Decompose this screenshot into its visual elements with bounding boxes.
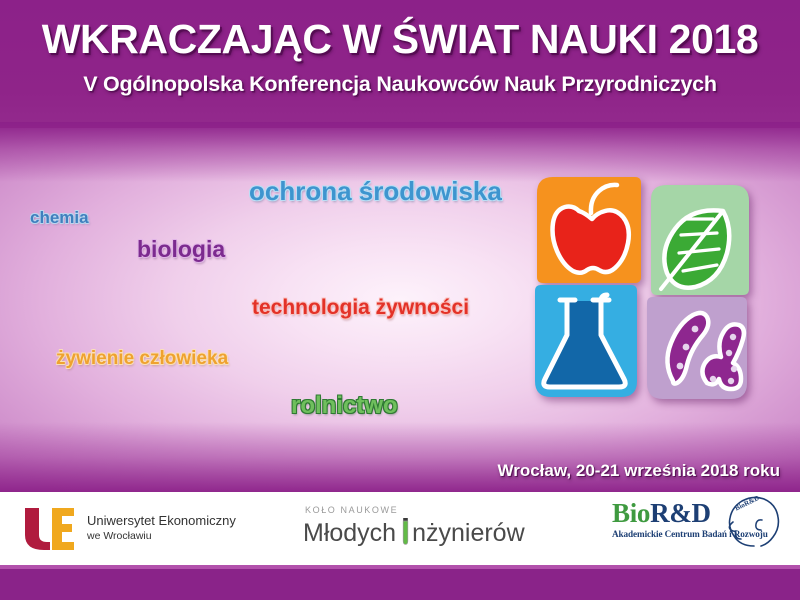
biord-bio-text: Bio <box>612 498 650 528</box>
logo-biord: BioR&D Akademickie Centrum Badań i Rozwo… <box>612 500 768 539</box>
keyword-rolnictwo: rolnictwo <box>291 394 398 418</box>
keyword-chemia: chemia <box>30 209 89 226</box>
ue-monogram-icon <box>22 505 76 551</box>
ue-line1: Uniwersytet Ekonomiczny <box>87 513 236 530</box>
page-title: WKRACZAJĄC W ŚWIAT NAUKI 2018 <box>0 0 800 61</box>
keyword-biologia: biologia <box>137 238 225 261</box>
logo-uniwersytet-ekonomiczny: Uniwersytet Ekonomiczny we Wrocławiu <box>22 505 236 551</box>
head-profile-icon: BioR&D <box>720 494 782 550</box>
apple-tile <box>537 177 641 283</box>
ue-text-block: Uniwersytet Ekonomiczny we Wrocławiu <box>87 513 236 543</box>
four-tile-science-emblem <box>527 167 763 407</box>
conference-poster: WKRACZAJĄC W ŚWIAT NAUKI 2018 V Ogólnopo… <box>0 0 800 600</box>
leaf-tile <box>651 185 749 295</box>
flask-tile <box>535 285 637 397</box>
test-tube-icon <box>401 518 410 545</box>
kn-word-inzynierow: nżynierów <box>412 521 525 546</box>
biord-rd-text: R&D <box>650 498 711 528</box>
kn-main-label: Młodych nżynierów <box>303 518 525 546</box>
kn-word-mlodych: Młodych <box>303 521 396 546</box>
kn-text-block: KOŁO NAUKOWE Młodych nżynierów <box>303 506 525 546</box>
ue-line2: we Wrocławiu <box>87 530 236 543</box>
poster-header: WKRACZAJĄC W ŚWIAT NAUKI 2018 V Ogólnopo… <box>0 0 800 126</box>
kn-top-label: KOŁO NAUKOWE <box>305 506 525 515</box>
keyword-zywienie-czlowieka: żywienie człowieka <box>56 349 228 368</box>
head-icon-letters: BioR&D <box>734 494 761 513</box>
page-subtitle: V Ogólnopolska Konferencja Naukowców Nau… <box>0 61 800 97</box>
footer-bottom-band <box>0 569 800 600</box>
keyword-ochrona-srodowiska: ochrona środowiska <box>249 178 502 204</box>
event-date-location: Wrocław, 20-21 września 2018 roku <box>497 461 780 481</box>
keyword-technologia-zywnosci: technologia żywności <box>252 297 469 318</box>
bacteria-tile <box>647 297 747 399</box>
logo-kolo-naukowe-mlodych-inzynierow: KOŁO NAUKOWE Młodych nżynierów <box>303 506 525 546</box>
